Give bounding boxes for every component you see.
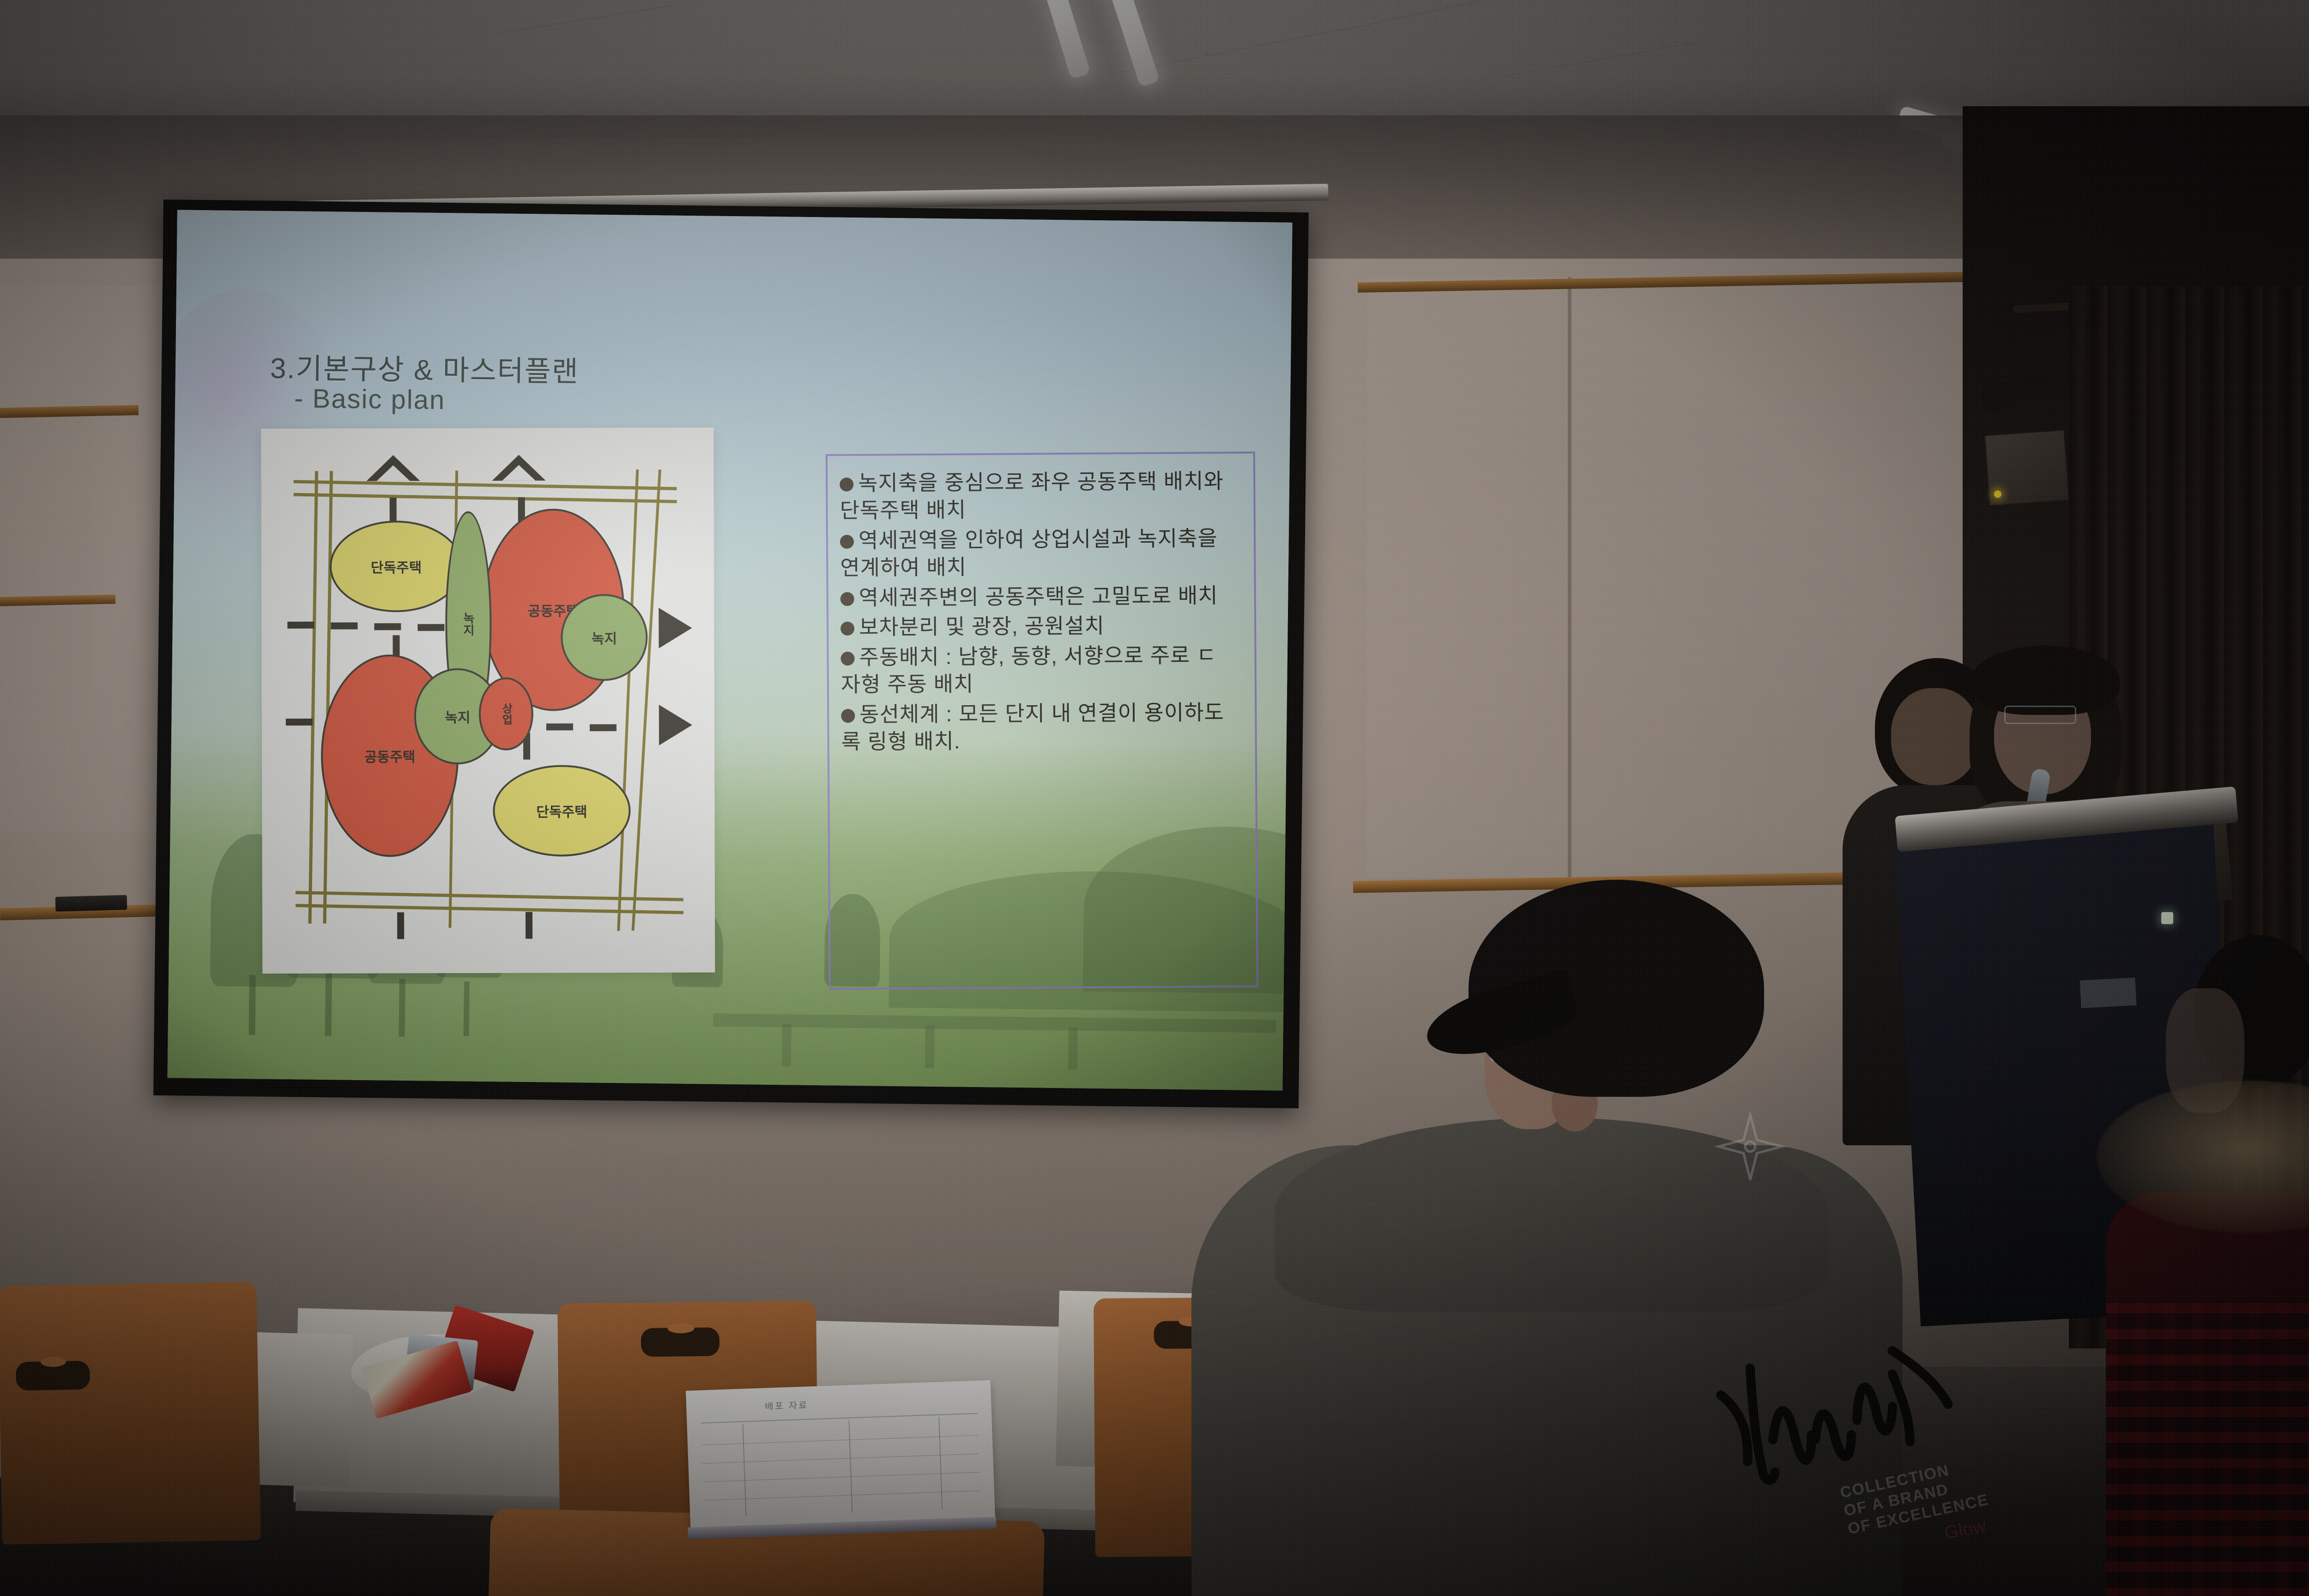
audience-right-plaid-pattern [2106,1302,2309,1596]
bullet-item: 역세권주변의 공동주택은 고밀도로 배치 [840,581,1242,611]
diagram-bubble-detached-housing: 단독주택 [493,765,631,857]
bullet-item: 보차분리 및 광장, 공원설치 [840,611,1242,641]
slide-photo-bridge-pillar [925,1026,935,1068]
diagram-dash [397,912,404,939]
wall-seam [1568,277,1572,877]
chair-handle-cutout [641,1327,720,1357]
screen-surface: 3.기본구상 & 마스터플랜 - Basic plan [167,210,1292,1090]
diagram-bubble-commercial: 상업 [479,677,533,750]
bullet-dot-icon [840,652,854,665]
bullet-item: 동선체계 : 모든 단지 내 연결이 용이하도록 링형 배치. [841,699,1243,756]
diagram-dash [590,724,617,731]
slide-photo-trunk [399,979,405,1037]
bullet-item: 역세권역을 인하여 상업시설과 녹지축을 연계하여 배치 [840,525,1242,581]
bullet-dot-icon [841,709,855,723]
diagram-peak-inner [376,465,410,481]
bullet-item: 녹지축을 중심으로 좌우 공동주택 배치와 단독주택 배치 [840,467,1242,524]
diagram-road [294,480,677,490]
classroom-scene: 3.기본구상 & 마스터플랜 - Basic plan [0,0,2309,1596]
handout-rule [701,1413,978,1424]
land-use-diagram: 단독주택 공동주택 녹지 녹지 공동주택 녹지 상업 단독주택 [261,428,715,974]
chair-back[interactable] [0,1282,261,1545]
handout-title: 배포 자료 [765,1397,809,1412]
diagram-road [632,470,661,931]
diagram-chevron-arrow [659,608,692,648]
slide-bullet-panel: 녹지축을 중심으로 좌우 공동주택 배치와 단독주택 배치 역세권역을 인하여 … [826,452,1258,990]
handout-document[interactable]: 배포 자료 [686,1380,995,1529]
diagram-dash [526,912,532,939]
hoodie-emblem-icon [1709,1108,1792,1191]
projection-screen: 3.기본구상 & 마스터플랜 - Basic plan [107,153,1356,1154]
slide-photo-trunk [325,971,332,1036]
slide-photo-trunk [464,981,470,1036]
diagram-dash [374,623,401,630]
handout-rule [743,1424,747,1516]
presenter-back-face [1891,688,1979,785]
diagram-dash [331,623,357,629]
diagram-road [294,493,677,503]
handout-rule [938,1417,943,1509]
slide-subtitle: - Basic plan [294,383,446,416]
diagram-road [323,471,333,924]
slide-photo-bridge-pillar [782,1024,792,1066]
screen-black-border: 3.기본구상 & 마스터플랜 - Basic plan [153,199,1309,1108]
speaker-led-indicator [1994,490,2001,498]
podium-led-indicator [2161,912,2173,924]
handout-rule [848,1420,852,1512]
presenter-front-fringe [1971,646,2120,715]
bullet-dot-icon [840,478,853,491]
diagram-peak-inner [502,465,535,481]
diagram-dash [417,624,444,631]
presentation-slide: 3.기본구상 & 마스터플랜 - Basic plan [167,210,1292,1090]
bullet-dot-icon [840,622,854,635]
diagram-bubble-detached-housing: 단독주택 [330,520,463,612]
diagram-dash [287,622,314,629]
diagram-dash [546,724,573,731]
diagram-road [296,904,683,914]
bullet-dot-icon [840,535,854,549]
diagram-bubble-green-space: 녹지 [561,594,647,681]
slide-photo-bridge-pillar [1068,1027,1078,1070]
bullet-item: 주동배치 : 남향, 동향, 서향으로 주로 ㄷ 자형 주동 배치 [840,641,1243,698]
diagram-road [296,891,683,901]
diagram-dash [286,719,313,725]
chair-handle-cutout [16,1360,90,1390]
bullet-dot-icon [840,592,854,606]
podium-label-plate [2080,978,2137,1008]
slide-photo-trunk [249,975,256,1035]
presenter-front-glasses [2004,706,2076,724]
diagram-road [308,471,319,924]
wall-panel [1367,277,1967,877]
diagram-chevron-arrow [659,705,692,745]
